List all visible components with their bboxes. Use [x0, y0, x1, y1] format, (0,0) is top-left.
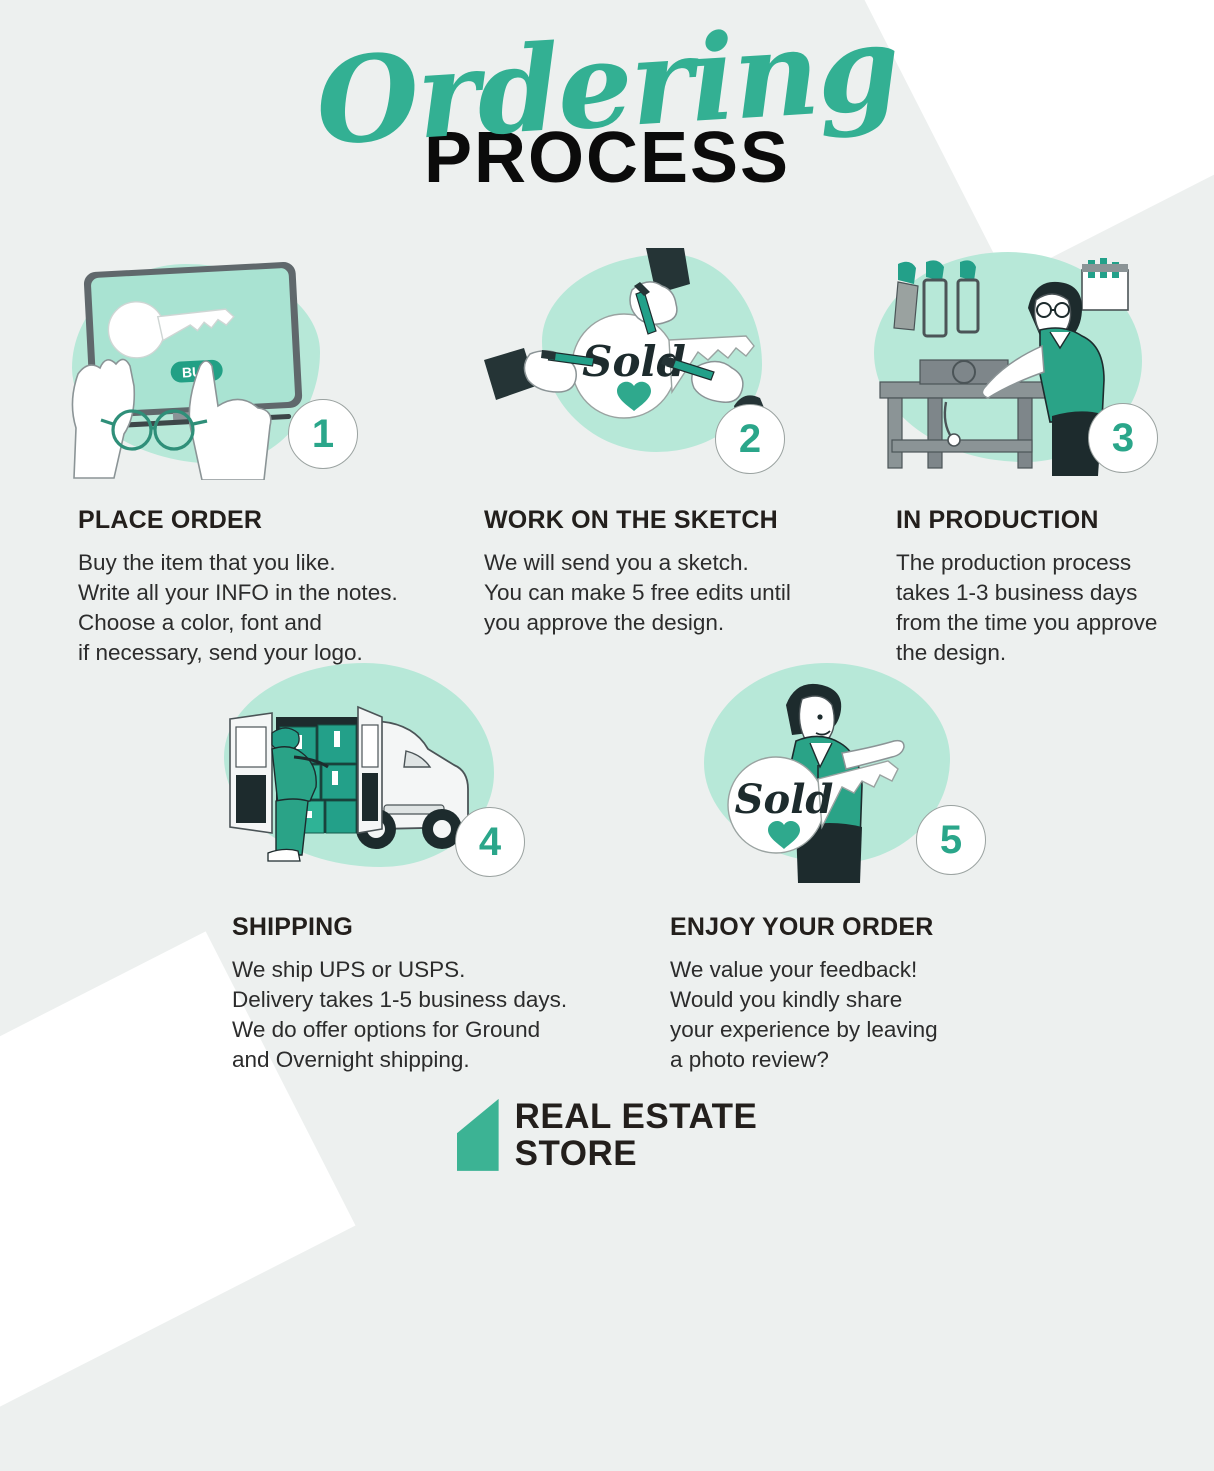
illustration-place-order: BUY [60, 248, 365, 480]
step-body-3: The production process takes 1-3 busines… [896, 548, 1200, 668]
illustration-enjoy-your-order: Sold 5 [692, 655, 997, 887]
house-arrow-icon [457, 1099, 499, 1171]
footer-logo: REAL ESTATE STORE [0, 1098, 1214, 1172]
step-body-5: We value your feedback! Would you kindly… [670, 955, 1090, 1075]
step-card-4: 4 SHIPPING We ship UPS or USPS. Delivery… [210, 655, 670, 1075]
step-badge-1: 1 [288, 399, 358, 469]
step-heading-2: WORK ON THE SKETCH [484, 506, 850, 535]
step-body-1: Buy the item that you like. Write all yo… [78, 548, 460, 668]
step-body-2: We will send you a sketch. You can make … [484, 548, 850, 638]
step-heading-3: IN PRODUCTION [896, 506, 1200, 535]
title-script-word: Ordering [313, 8, 901, 161]
sold-script-text-5: Sold [735, 776, 834, 823]
step-heading-1: PLACE ORDER [78, 506, 460, 535]
step-card-1: BUY [60, 248, 460, 668]
illustration-in-production: 3 [868, 248, 1173, 480]
step-badge-4: 4 [455, 807, 525, 877]
step-heading-5: ENJOY YOUR ORDER [670, 913, 1090, 942]
step-card-5: Sold 5 ENJOY YOUR ORDER We value your fe… [670, 655, 1090, 1075]
logo-text: REAL ESTATE STORE [515, 1098, 758, 1172]
illustration-shipping: 4 [210, 655, 515, 887]
steps-row-bottom: 4 SHIPPING We ship UPS or USPS. Delivery… [0, 655, 1214, 1075]
step-badge-5: 5 [916, 805, 986, 875]
saws-on-wall [894, 260, 978, 336]
step-card-3: 3 IN PRODUCTION The production process t… [850, 248, 1200, 668]
step-card-2: Sold [460, 248, 850, 668]
page-title: Ordering PROCESS [0, 26, 1214, 194]
steps-row-top: BUY [0, 248, 1214, 668]
step-badge-2: 2 [715, 404, 785, 474]
tool-holder [1082, 258, 1128, 310]
illustration-work-on-sketch: Sold [484, 248, 789, 480]
step-body-4: We ship UPS or USPS. Delivery takes 1-5 … [232, 955, 670, 1075]
step-heading-4: SHIPPING [232, 913, 670, 942]
step-badge-3: 3 [1088, 403, 1158, 473]
